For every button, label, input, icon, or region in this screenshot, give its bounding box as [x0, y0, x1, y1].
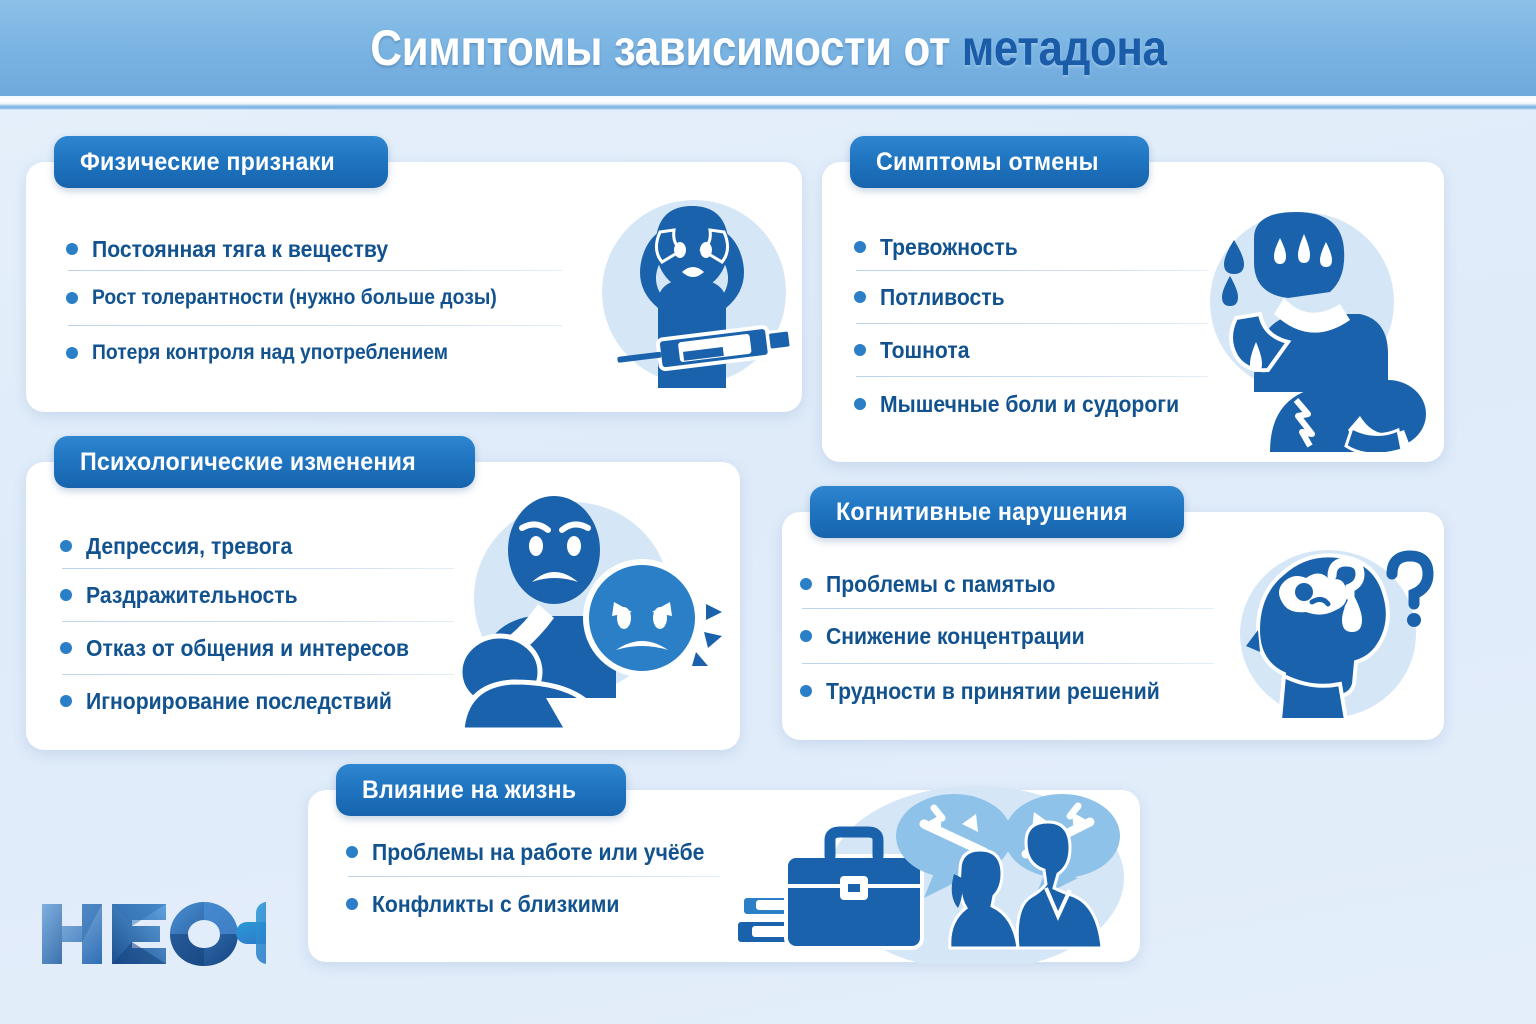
neo-plus-logo [36, 890, 266, 976]
list-item-label: Игнорирование последствий [86, 688, 392, 715]
bullet-dot-icon [346, 846, 358, 858]
header-separator [0, 96, 1536, 110]
head-brain-question-icon [1228, 534, 1438, 734]
list-item-label: Рост толерантности (нужно больше дозы) [92, 286, 497, 310]
list-item: Мышечные боли и судороги [854, 377, 1234, 431]
list-item-label: Конфликты с близкими [372, 891, 619, 918]
bullet-dot-icon [66, 347, 78, 359]
card-psychological-changes: Психологические изменения Депрессия, тре… [26, 462, 740, 750]
bullet-list-withdrawal-symptoms: Тревожность Потливость Тошнота Мышечные … [854, 224, 1234, 431]
bullet-dot-icon [60, 642, 72, 654]
bullet-dot-icon [800, 685, 812, 697]
list-item: Отказ от общения и интересов [60, 622, 480, 674]
list-item: Тревожность [854, 224, 1234, 270]
bullet-list-psychological-changes: Депрессия, тревога Раздражительность Отк… [60, 524, 480, 727]
card-physical-signs: Физические признаки Постоянная тяга к ве… [26, 162, 802, 412]
card-title: Психологические изменения [80, 448, 416, 477]
list-item: Снижение концентрации [800, 609, 1240, 663]
list-item: Постоянная тяга к веществу [66, 228, 586, 270]
page-title-accent: метадона [961, 20, 1166, 76]
bullet-dot-icon [60, 540, 72, 552]
bullet-dot-icon [854, 344, 866, 356]
card-header-cognitive-impairment: Когнитивные нарушения [810, 486, 1184, 538]
bullet-list-physical-signs: Постоянная тяга к веществу Рост толерант… [66, 228, 586, 380]
bullet-dot-icon [60, 589, 72, 601]
list-item: Проблемы на работе или учёбе [346, 828, 746, 876]
list-item: Игнорирование последствий [60, 675, 480, 727]
list-item: Рост толерантности (нужно больше дозы) [66, 271, 586, 325]
list-item: Конфликты с близкими [346, 877, 746, 931]
card-withdrawal-symptoms: Симптомы отмены Тревожность Потливость Т… [822, 162, 1444, 462]
list-item-label: Трудности в принятии решений [826, 678, 1160, 705]
card-cognitive-impairment: Когнитивные нарушения Проблемы с памятыо… [782, 512, 1444, 740]
list-item-label: Потливость [880, 284, 1005, 311]
page-title: Симптомы зависимости от метадона [370, 19, 1166, 77]
card-title: Симптомы отмены [876, 148, 1099, 177]
list-item: Трудности в принятии решений [800, 664, 1240, 718]
list-item-label: Постоянная тяга к веществу [92, 236, 388, 263]
list-item-label: Мышечные боли и судороги [880, 391, 1179, 418]
list-item-label: Раздражительность [86, 582, 298, 609]
briefcase-books-couple-icon [726, 774, 1126, 964]
card-life-impact: Влияние на жизнь Проблемы на работе или … [308, 790, 1140, 962]
bullet-dot-icon [66, 243, 78, 255]
bullet-list-life-impact: Проблемы на работе или учёбе Конфликты с… [346, 828, 746, 931]
list-item: Потливость [854, 271, 1234, 323]
card-header-physical-signs: Физические признаки [54, 136, 388, 188]
list-item-label: Снижение концентрации [826, 623, 1085, 650]
list-item-label: Депрессия, тревога [86, 533, 292, 560]
list-item-label: Тревожность [880, 234, 1018, 261]
card-header-withdrawal-symptoms: Симптомы отмены [850, 136, 1149, 188]
page-title-plain: Симптомы зависимости от [370, 20, 961, 76]
bullet-dot-icon [854, 398, 866, 410]
bullet-dot-icon [60, 695, 72, 707]
bullet-dot-icon [854, 241, 866, 253]
stressed-person-syringe-icon [586, 192, 796, 392]
bullet-dot-icon [346, 898, 358, 910]
card-title: Влияние на жизнь [362, 776, 576, 805]
bullet-dot-icon [800, 578, 812, 590]
bullet-dot-icon [800, 630, 812, 642]
list-item-label: Проблемы на работе или учёбе [372, 839, 704, 866]
card-header-psychological-changes: Психологические изменения [54, 436, 475, 488]
list-item-label: Потеря контроля над употреблением [92, 341, 448, 365]
list-item-label: Отказ от общения и интересов [86, 635, 409, 662]
card-title: Физические признаки [80, 148, 335, 177]
list-item: Потеря контроля над употреблением [66, 326, 586, 380]
list-item: Проблемы с памятыо [800, 560, 1240, 608]
list-item: Депрессия, тревога [60, 524, 480, 568]
card-header-life-impact: Влияние на жизнь [336, 764, 626, 816]
bullet-dot-icon [66, 292, 78, 304]
list-item-label: Тошнота [880, 337, 969, 364]
card-title: Когнитивные нарушения [836, 498, 1128, 527]
list-item-label: Проблемы с памятыо [826, 571, 1055, 598]
bullet-dot-icon [854, 291, 866, 303]
list-item: Тошнота [854, 324, 1234, 376]
page-header: Симптомы зависимости от метадона [0, 0, 1536, 96]
infographic-page: Симптомы зависимости от метадона Физичес… [0, 0, 1536, 1024]
bullet-list-cognitive-impairment: Проблемы с памятыо Снижение концентрации… [800, 560, 1240, 718]
list-item: Раздражительность [60, 569, 480, 621]
